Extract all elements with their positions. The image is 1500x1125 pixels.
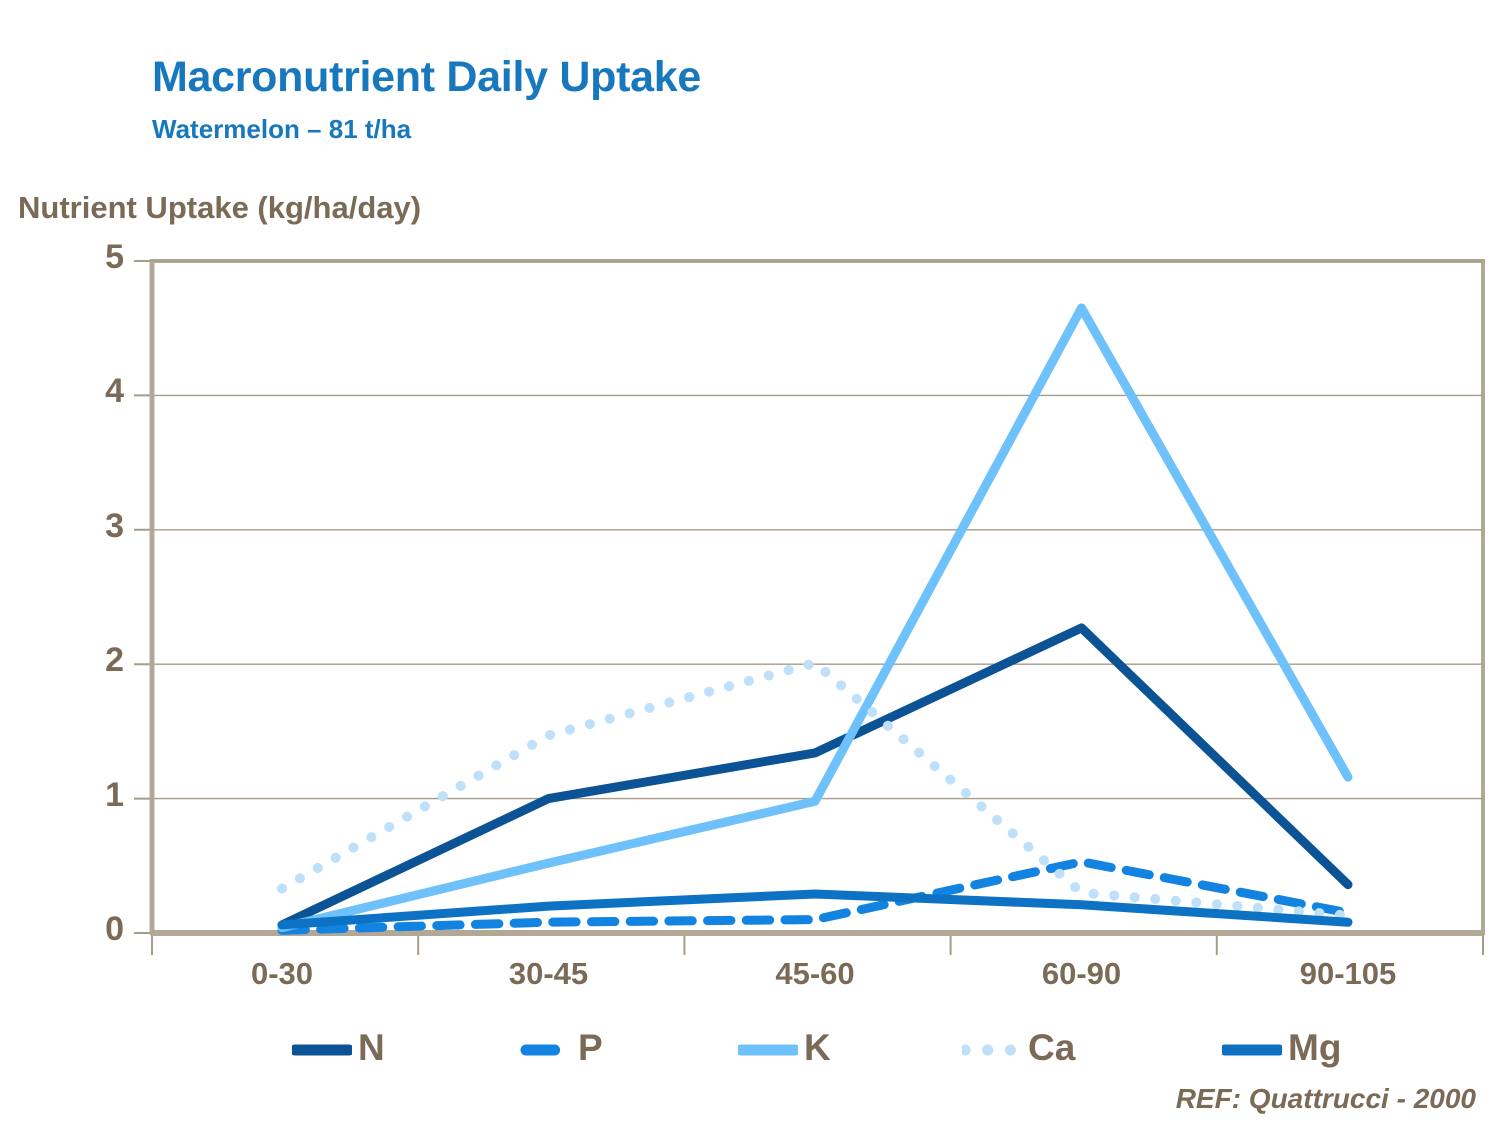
legend-label: Ca [1028,1024,1075,1072]
y-tick-label: 5 [64,238,124,277]
legend-label: K [804,1024,831,1072]
legend-swatch-n-icon [292,1024,352,1072]
plot-area: 012345 0-3030-4545-6060-9090-105 [0,0,1500,1125]
legend-item-mg[interactable]: Mg [1222,1024,1341,1072]
legend-item-p[interactable]: P [512,1024,603,1072]
legend-swatch-ca-icon [962,1024,1022,1072]
x-tick-label: 45-60 [715,956,915,992]
y-tick-label: 1 [64,776,124,815]
reference-note: REF: Quattrucci - 2000 [1176,1083,1476,1115]
y-tick-label: 2 [64,641,124,680]
x-tick-label: 90-105 [1248,956,1448,992]
legend-swatch-p-icon [512,1024,572,1072]
x-tick-label: 60-90 [982,956,1182,992]
y-tick-label: 0 [64,910,124,949]
x-tick-label: 0-30 [182,956,382,992]
legend-item-ca[interactable]: Ca [962,1024,1075,1072]
legend-label: Mg [1288,1024,1341,1072]
legend-item-n[interactable]: N [292,1024,385,1072]
y-tick-label: 4 [64,372,124,411]
legend-label: N [358,1024,385,1072]
legend-swatch-k-icon [738,1024,798,1072]
chart-legend: NPKCaMg [0,1024,1500,1072]
legend-item-k[interactable]: K [738,1024,831,1072]
legend-label: P [578,1024,603,1072]
legend-swatch-mg-icon [1222,1024,1282,1072]
x-tick-label: 30-45 [449,956,649,992]
y-tick-label: 3 [64,507,124,546]
